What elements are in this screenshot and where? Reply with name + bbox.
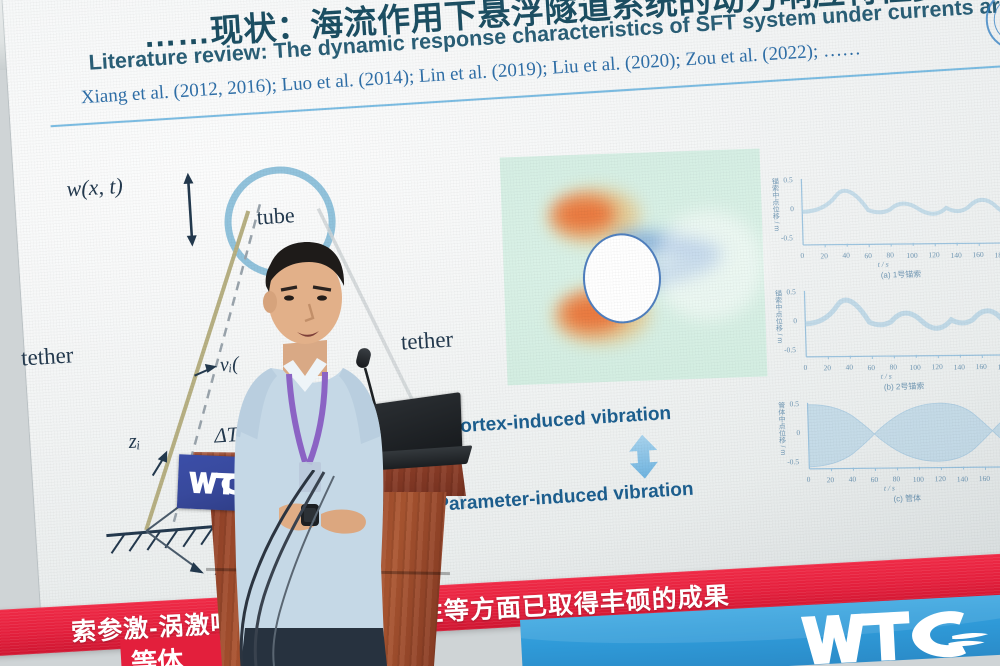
seal-character: 交 bbox=[992, 0, 1000, 44]
wtc-floor-logo bbox=[799, 601, 992, 666]
cable-1 bbox=[241, 470, 314, 666]
plot-a-xtick-180: 180 bbox=[994, 250, 1000, 259]
plot-c: 管体中点位移 / m 0.5 0 -0.5 bbox=[773, 389, 1000, 508]
arrow-head-down bbox=[187, 235, 198, 247]
red-banner-lower-text: 等体 bbox=[130, 641, 184, 666]
plot-c-xtick-40: 40 bbox=[849, 475, 857, 484]
plot-b-xtick-40: 40 bbox=[845, 363, 853, 372]
plot-a-xtick-60: 60 bbox=[864, 251, 872, 260]
cables bbox=[220, 470, 360, 666]
plot-b-xtick-80: 80 bbox=[889, 362, 897, 371]
plot-b-xtick-100: 100 bbox=[909, 363, 920, 372]
plot-a: 锚索中点位移 / m 0.5 0 -0.5 bbox=[767, 165, 1000, 284]
plot-c-xtick-120: 120 bbox=[935, 474, 946, 483]
plot-a-xtick-140: 140 bbox=[950, 251, 961, 260]
plot-a-xtick-80: 80 bbox=[886, 250, 894, 259]
plot-a-xtick-0: 0 bbox=[800, 251, 804, 260]
plot-c-xtick-80: 80 bbox=[893, 474, 901, 483]
label-tube: tube bbox=[256, 202, 295, 230]
projection-screen: ……现状：海流作用下悬浮隧道系统的动力响应特性复杂 Literature rev… bbox=[2, 0, 1000, 640]
presenter-ear bbox=[263, 291, 277, 313]
plot-a-xtick-120: 120 bbox=[928, 250, 939, 259]
presenter-eye-right bbox=[317, 295, 327, 300]
plot-a-xtick-100: 100 bbox=[906, 251, 917, 260]
plot-a-xtick-40: 40 bbox=[842, 251, 850, 260]
plot-b-xtick-20: 20 bbox=[823, 363, 831, 372]
plot-a-xlabel: t / s bbox=[878, 260, 889, 269]
response-plots-group: 锚索中点位移 / m 0.5 0 -0.5 bbox=[767, 165, 1000, 524]
plot-c-xtick-60: 60 bbox=[871, 475, 879, 484]
plot-a-xtick-160: 160 bbox=[972, 250, 983, 259]
plot-b-xtick-120: 120 bbox=[931, 362, 942, 371]
cfd-vorticity-panel bbox=[500, 148, 768, 385]
cable-3 bbox=[273, 476, 334, 666]
plot-b-xtick-0: 0 bbox=[803, 363, 807, 372]
projection-screen-wrap: ……现状：海流作用下悬浮隧道系统的动力响应特性复杂 Literature rev… bbox=[0, 0, 1000, 659]
plot-a-xtick-20: 20 bbox=[820, 251, 828, 260]
label-displacement: w(x, t) bbox=[66, 173, 124, 202]
plot-c-xtick-140: 140 bbox=[957, 474, 968, 483]
plot-c-xtick-0: 0 bbox=[807, 475, 811, 484]
displacement-arrow bbox=[188, 181, 192, 239]
plot-b: 锚索中点位移 / m 0.5 0 -0.5 bbox=[770, 277, 1000, 396]
double-arrow-icon bbox=[627, 434, 660, 480]
plot-b-xtick-60: 60 bbox=[867, 363, 875, 372]
plot-c-xtick-100: 100 bbox=[913, 475, 924, 484]
plot-b-xtick-140: 140 bbox=[954, 362, 965, 371]
presenter-eye-left bbox=[284, 295, 294, 300]
cable-2 bbox=[255, 472, 324, 666]
plot-b-xlabel: t / s bbox=[881, 372, 892, 381]
screenshot-root: ……现状：海流作用下悬浮隧道系统的动力响应特性复杂 Literature rev… bbox=[0, 0, 1000, 666]
plot-c-xlabel: t / s bbox=[884, 483, 895, 492]
plot-c-xtick-20: 20 bbox=[827, 475, 835, 484]
arrow-head-up bbox=[183, 172, 194, 184]
label-tether-left: tether bbox=[20, 342, 74, 371]
plot-b-xtick-160: 160 bbox=[975, 362, 986, 371]
plot-c-xtick-160: 160 bbox=[979, 474, 990, 483]
